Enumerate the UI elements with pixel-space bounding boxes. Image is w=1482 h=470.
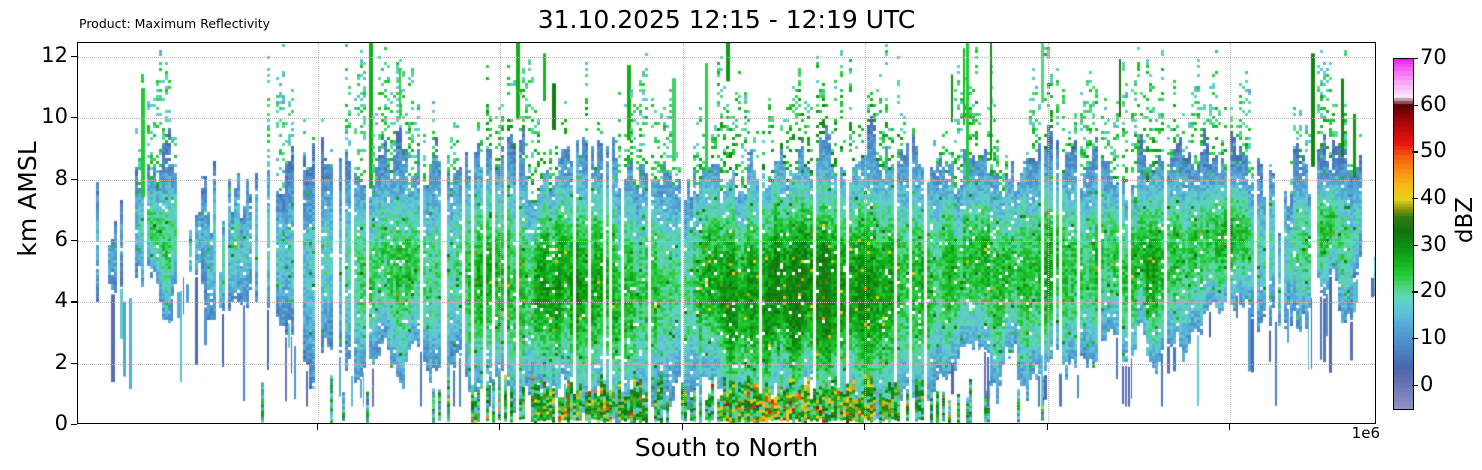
x-tick-mark	[1047, 424, 1048, 430]
colorbar-tick-mark	[1412, 58, 1418, 59]
y-tick-mark	[71, 179, 77, 180]
x-axis-offset-label: 1e6	[1310, 424, 1380, 442]
colorbar-tick-label: 50	[1420, 140, 1447, 161]
plot-area[interactable]	[77, 42, 1376, 424]
colorbar-tick-mark	[1412, 198, 1418, 199]
colorbar-tick-mark	[1412, 291, 1418, 292]
y-tick-mark	[71, 424, 77, 425]
colorbar-tick-label: 20	[1420, 280, 1447, 301]
colorbar-tick-label: 70	[1420, 47, 1447, 68]
y-tick-label: 10	[22, 106, 68, 127]
colorbar-tick-mark	[1412, 385, 1418, 386]
y-tick-mark	[71, 117, 77, 118]
y-tick-mark	[71, 363, 77, 364]
y-tick-label: 12	[22, 45, 68, 66]
x-axis-label: South to North	[77, 433, 1376, 463]
colorbar-tick-label: 30	[1420, 234, 1447, 255]
product-label: Product: Maximum Reflectivity	[79, 16, 270, 31]
colorbar-tick-mark	[1412, 338, 1418, 339]
colorbar-gradient	[1393, 58, 1414, 410]
y-tick-label: 6	[22, 229, 68, 250]
colorbar-tick-label: 10	[1420, 327, 1447, 348]
colorbar[interactable]	[1393, 58, 1412, 408]
page-title: 31.10.2025 12:15 - 12:19 UTC	[77, 5, 1376, 35]
colorbar-tick-mark	[1412, 105, 1418, 106]
y-tick-mark	[71, 240, 77, 241]
y-tick-label: 8	[22, 168, 68, 189]
y-tick-label: 4	[22, 290, 68, 311]
y-axis-label: km AMSL	[14, 109, 42, 289]
x-tick-mark	[1229, 424, 1230, 430]
colorbar-tick-label: 60	[1420, 94, 1447, 115]
x-tick-mark	[864, 424, 865, 430]
colorbar-tick-mark	[1412, 245, 1418, 246]
y-tick-mark	[71, 301, 77, 302]
y-tick-mark	[71, 56, 77, 57]
colorbar-tick-label: 40	[1420, 187, 1447, 208]
x-tick-mark	[682, 424, 683, 430]
y-tick-label: 0	[22, 413, 68, 434]
colorbar-tick-mark	[1412, 151, 1418, 152]
radar-cross-section-figure: 31.10.2025 12:15 - 12:19 UTC Product: Ma…	[0, 0, 1482, 470]
colorbar-tick-label: 0	[1420, 374, 1433, 395]
x-tick-mark	[317, 424, 318, 430]
y-tick-label: 2	[22, 352, 68, 373]
colorbar-label: dBZ	[1452, 160, 1478, 280]
x-tick-mark	[499, 424, 500, 430]
reflectivity-heatmap	[78, 43, 1376, 424]
